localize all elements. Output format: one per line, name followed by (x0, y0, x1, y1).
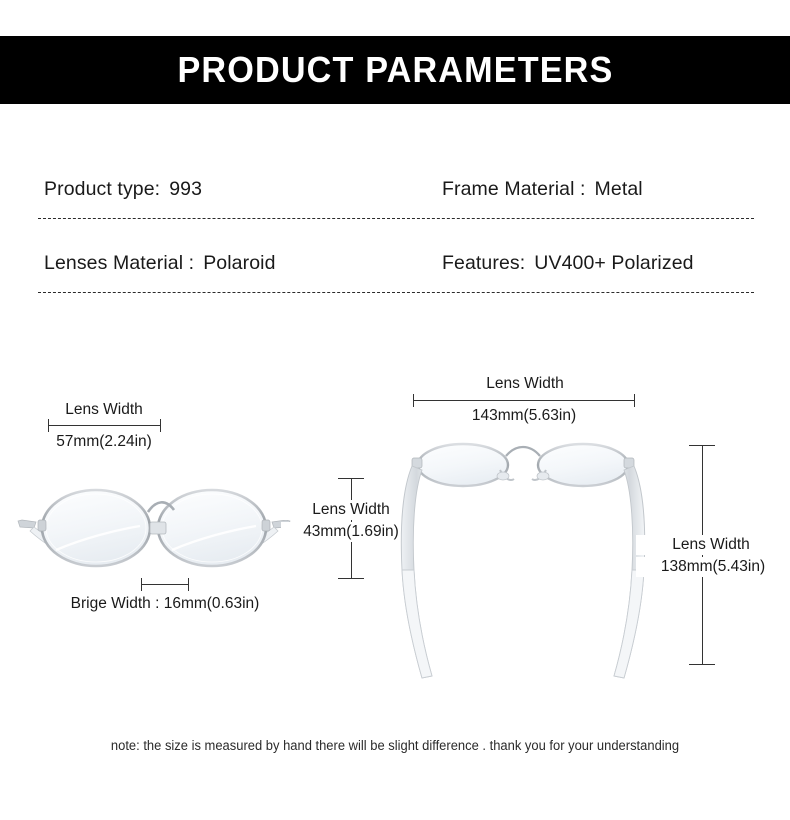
parameter-row: Lenses Material :Polaroid Features:UV400… (38, 242, 754, 316)
front-lens-width-rule (48, 425, 161, 426)
bridge-width-rule (141, 584, 189, 585)
parameter-label: Frame Material : (442, 178, 586, 200)
temple-length-caption: Lens Width (636, 535, 786, 555)
top-frame-width-caption: Lens Width (450, 374, 600, 394)
top-frame-width-rule (413, 400, 635, 401)
eyeglasses-top-view-image (396, 430, 668, 690)
eyeglasses-front-view-image (14, 480, 294, 590)
header-banner: PRODUCT PARAMETERS (0, 36, 790, 104)
parameter-product-type: Product type:993 (44, 178, 202, 201)
front-lens-width-caption: Lens Width (34, 400, 174, 420)
parameter-label: Features: (442, 252, 525, 274)
temple-length-rule (702, 445, 703, 665)
parameter-features: Features:UV400+ Polarized (442, 252, 694, 275)
row-divider (38, 218, 754, 219)
parameter-label: Lenses Material : (44, 252, 194, 274)
dimension-diagram-area: Lens Width 57mm(2.24in) (0, 330, 790, 730)
front-lens-height-tick-bottom (338, 578, 364, 579)
row-divider (38, 292, 754, 293)
parameter-label: Product type: (44, 178, 160, 200)
front-lens-width-measure: 57mm(2.24in) (34, 432, 174, 452)
parameter-value: 993 (169, 178, 202, 200)
bridge-width-tick-left (141, 578, 142, 591)
page-title: PRODUCT PARAMETERS (177, 49, 613, 91)
parameter-frame-material: Frame Material :Metal (442, 178, 643, 201)
front-lens-width-tick-right (160, 419, 161, 432)
bridge-width-tick-right (188, 578, 189, 591)
temple-length-tick-bottom (689, 664, 715, 665)
measurement-note: note: the size is measured by hand there… (16, 738, 774, 753)
bridge-width-caption: Brige Width : 16mm(0.63in) (30, 594, 300, 614)
front-lens-height-tick-top (338, 478, 364, 479)
parameter-value: Metal (595, 178, 643, 200)
parameter-value: Polaroid (203, 252, 275, 274)
parameters-table: Product type:993 Frame Material :Metal L… (38, 168, 754, 316)
parameter-lenses-material: Lenses Material :Polaroid (44, 252, 276, 275)
temple-length-tick-top (689, 445, 715, 446)
parameter-row: Product type:993 Frame Material :Metal (38, 168, 754, 242)
temple-length-measure: 138mm(5.43in) (636, 557, 790, 577)
product-parameters-page: PRODUCT PARAMETERS Product type:993 Fram… (0, 0, 790, 820)
top-frame-width-tick-left (413, 394, 414, 407)
top-frame-width-measure: 143mm(5.63in) (449, 406, 599, 426)
front-lens-width-tick-left (48, 419, 49, 432)
parameter-value: UV400+ Polarized (534, 252, 693, 274)
top-frame-width-tick-right (634, 394, 635, 407)
